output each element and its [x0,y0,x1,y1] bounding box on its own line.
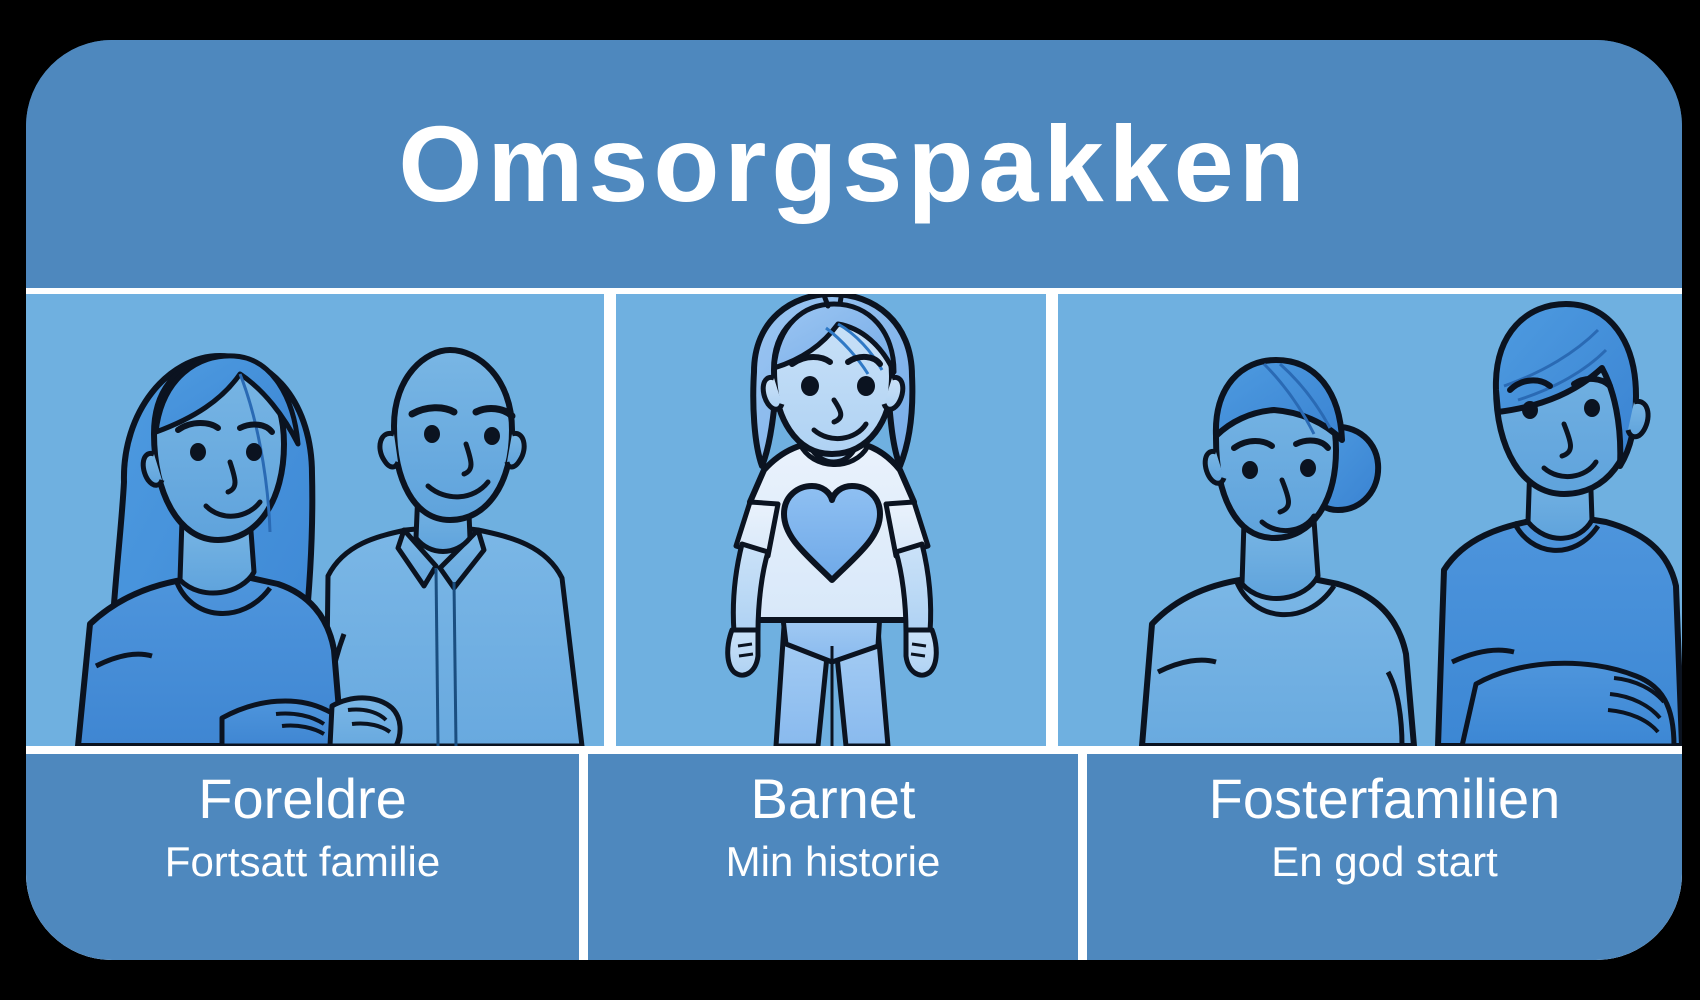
panel-barnet[interactable] [616,294,1046,746]
footer-title-barnet: Barnet [751,768,916,831]
panel-foreldre[interactable] [26,294,604,746]
illustration-panel-row [26,288,1682,748]
child-illustration [616,294,1046,746]
omsorgspakken-card: Omsorgspakken [26,40,1682,960]
joined-hands [222,698,400,746]
foster-family-illustration [1058,294,1682,746]
footer-subtitle-foreldre: Fortsatt familie [165,837,440,887]
footer-cell-foreldre[interactable]: Foreldre Fortsatt familie [26,754,579,960]
parents-illustration [26,294,604,746]
footer-title-foreldre: Foreldre [198,768,407,831]
footer-title-fosterfamilien: Fosterfamilien [1209,768,1561,831]
footer-cell-fosterfamilien[interactable]: Fosterfamilien En god start [1087,754,1682,960]
footer-subtitle-fosterfamilien: En god start [1271,837,1497,887]
footer-subtitle-barnet: Min historie [726,837,941,887]
card-header: Omsorgspakken [26,40,1682,288]
panel-fosterfamilien[interactable] [1058,294,1682,746]
footer-cell-barnet[interactable]: Barnet Min historie [588,754,1078,960]
footer-label-row: Foreldre Fortsatt familie Barnet Min his… [26,748,1682,960]
poster-stage: Omsorgspakken [0,0,1700,1000]
page-title: Omsorgspakken [398,110,1309,218]
